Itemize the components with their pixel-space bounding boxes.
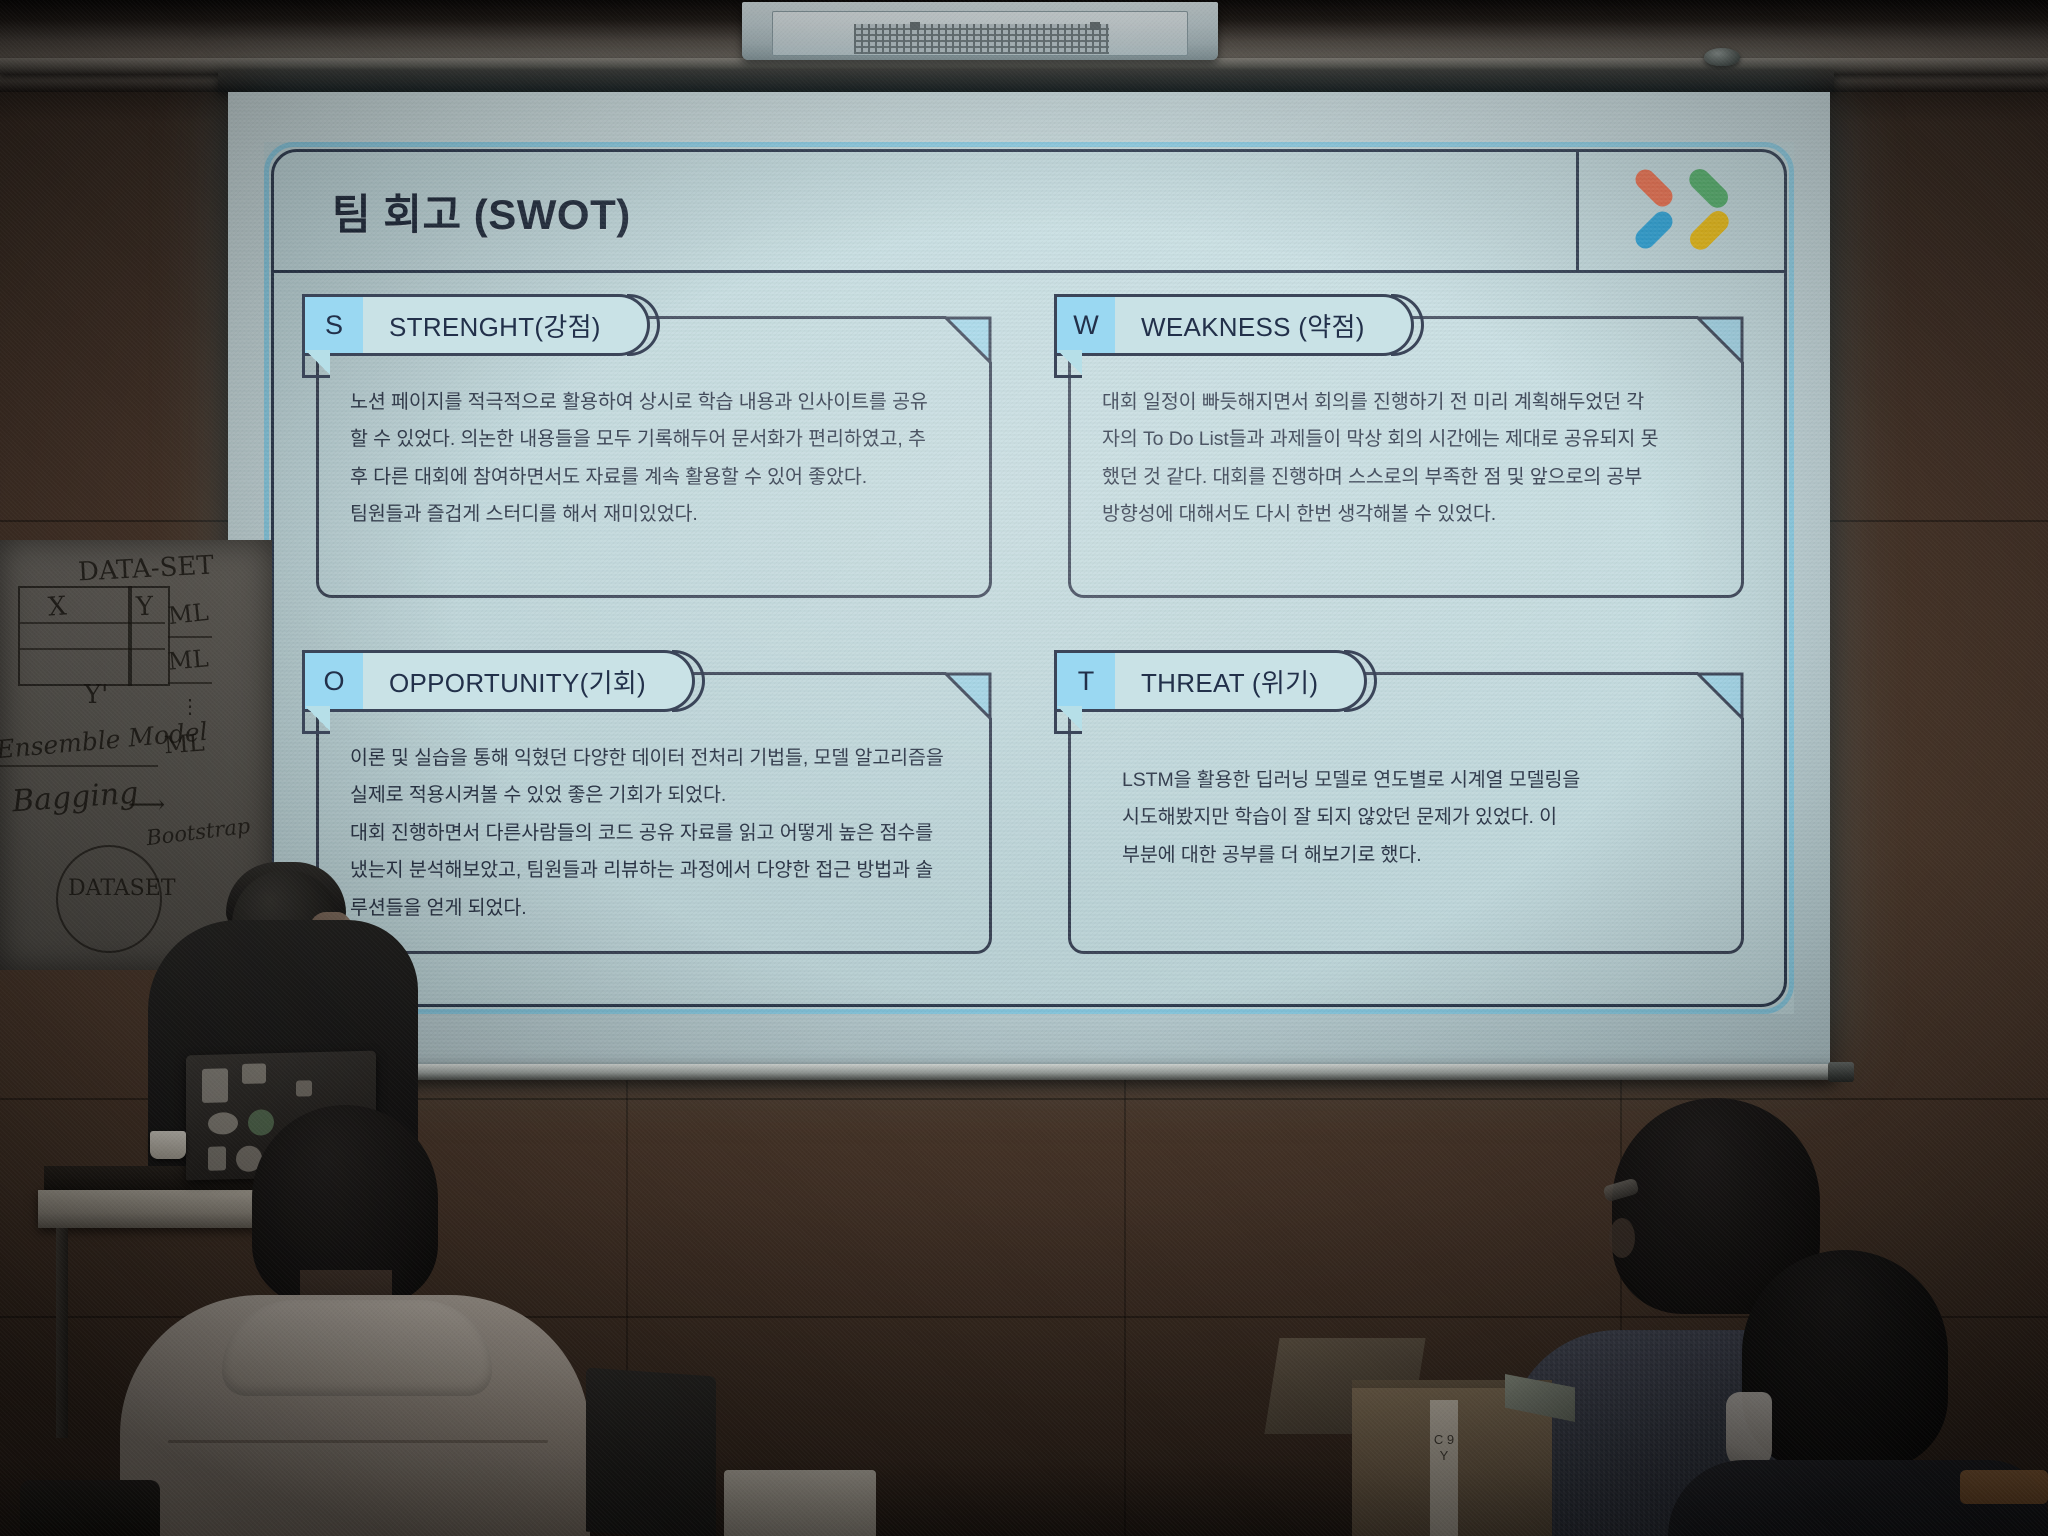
card-label: S STRENGHT(강점)	[302, 294, 650, 356]
whiteboard-note: X	[47, 591, 68, 622]
card-heading: WEAKNESS (약점)	[1115, 294, 1414, 356]
card-heading: STRENGHT(강점)	[363, 294, 650, 356]
card-text-line: 대회 일정이 빠듯해지면서 회의를 진행하기 전 미리 계획해두었던 각	[1102, 384, 1712, 421]
ceiling-air-conditioner	[742, 2, 1218, 60]
whiteboard-rule	[20, 648, 165, 650]
whiteboard-note: ML	[167, 598, 210, 630]
laptop-sticker	[296, 1080, 312, 1096]
whiteboard-rule	[168, 682, 212, 684]
box-label-text: C 9 Y	[1432, 1432, 1456, 1465]
foreground-desk	[724, 1470, 876, 1536]
slide-header: 팀 회고 (SWOT)	[274, 152, 1784, 273]
smoke-detector	[1704, 48, 1740, 66]
whiteboard-rule	[20, 622, 165, 624]
card-letter-badge: W	[1054, 294, 1115, 356]
laptop-sticker	[242, 1063, 266, 1084]
card-label: T THREAT (위기)	[1054, 650, 1367, 712]
attendee-collar	[222, 1300, 492, 1396]
attendee-head	[1742, 1250, 1948, 1470]
whiteboard-rule	[0, 765, 158, 767]
whiteboard-note: DATA-SET	[77, 550, 214, 587]
screenshot-stage: 팀 회고 (SWOT)	[0, 0, 2048, 1536]
ac-tab	[910, 22, 920, 30]
card-text-line: 부분에 대한 공부를 더 해보기로 했다.	[1122, 837, 1712, 874]
folded-corner-icon	[944, 316, 992, 364]
swot-grid: S STRENGHT(강점) 노션 페이지를 적극적으로 활용하여 상시로 학습…	[316, 294, 1744, 954]
folded-corner-icon	[1696, 316, 1744, 364]
whiteboard-note: ⋮	[180, 694, 200, 718]
card-heading: THREAT (위기)	[1115, 650, 1367, 712]
whiteboard-note: Y'	[84, 680, 108, 710]
attendee-vest-seam	[168, 1440, 548, 1443]
page-title: 팀 회고 (SWOT)	[332, 181, 631, 242]
swot-card-threat: T THREAT (위기) LSTM을 활용한 딥러닝 모델로 연도별로 시계열…	[1068, 650, 1744, 954]
folded-corner-icon	[944, 672, 992, 720]
swot-card-weakness: W WEAKNESS (약점) 대회 일정이 빠듯해지면서 회의를 진행하기 전…	[1068, 294, 1744, 598]
card-letter-badge: S	[302, 294, 363, 356]
card-text: 노션 페이지를 적극적으로 활용하여 상시로 학습 내용과 인사이트를 공유 할…	[350, 384, 960, 534]
code-brackets-logo	[1616, 168, 1748, 254]
desk-leg	[56, 1228, 68, 1438]
laptop-sticker	[208, 1112, 238, 1135]
card-text-line: 할 수 있었다. 의논한 내용들을 모두 기록해두어 문서화가 편리하였고, 추	[350, 421, 960, 458]
card-text: 대회 일정이 빠듯해지면서 회의를 진행하기 전 미리 계획해두었던 각 자의 …	[1102, 384, 1712, 534]
card-letter-badge: O	[302, 650, 363, 712]
whiteboard-note: Y	[135, 592, 153, 623]
card-text-line: 냈는지 분석해보았고, 팀원들과 리뷰하는 과정에서 다양한 접근 방법과 솔	[350, 852, 960, 889]
swot-card-strength: S STRENGHT(강점) 노션 페이지를 적극적으로 활용하여 상시로 학습…	[316, 294, 992, 598]
logo-cell	[1576, 152, 1784, 270]
card-text-line: 실제로 적용시켜볼 수 있었 좋은 기회가 되었다.	[350, 777, 960, 814]
card-heading: OPPORTUNITY(기회)	[363, 650, 695, 712]
screen-endcap	[1828, 1062, 1854, 1082]
card-text-line: 노션 페이지를 적극적으로 활용하여 상시로 학습 내용과 인사이트를 공유	[350, 384, 960, 421]
card-text-line: 시도해봤지만 학습이 잘 되지 않았던 문제가 있었다. 이	[1122, 799, 1712, 836]
whiteboard-table-x	[18, 586, 132, 686]
projection-screen-roller	[218, 70, 1834, 92]
slide: 팀 회고 (SWOT)	[264, 142, 1794, 1014]
card-text-line: 팀원들과 즐겁게 스터디를 해서 재미있었다.	[350, 496, 960, 533]
card-letter-badge: T	[1054, 650, 1115, 712]
box-label	[1430, 1400, 1458, 1536]
card-label: O OPPORTUNITY(기회)	[302, 650, 695, 712]
card-text: LSTM을 활용한 딥러닝 모델로 연도별로 시계열 모델링을 시도해봤지만 학…	[1122, 762, 1712, 874]
ac-grille-icon	[854, 24, 1109, 54]
swot-card-opportunity: O OPPORTUNITY(기회) 이론 및 실습을 통해 익혔던 다양한 데이…	[316, 650, 992, 954]
laptop-sticker	[202, 1068, 228, 1103]
foreground-object	[1960, 1470, 2048, 1504]
card-text-line: 했던 것 같다. 대회를 진행하며 스스로의 부족한 점 및 앞으로의 공부	[1102, 459, 1712, 496]
card-text-line: 루션들을 얻게 되었다.	[350, 890, 960, 927]
projection-screen: 팀 회고 (SWOT)	[228, 92, 1830, 1064]
card-text-line: 후 다른 대회에 참여하면서도 자료를 계속 활용할 수 있어 좋았다.	[350, 459, 960, 496]
folded-corner-icon	[1696, 672, 1744, 720]
card-text-line: 대회 진행하면서 다른사람들의 코드 공유 자료를 읽고 어떻게 높은 점수를	[350, 815, 960, 852]
projection-screen-bottom-bar	[222, 1064, 1836, 1080]
foreground-chair	[20, 1480, 160, 1536]
laptop-sticker	[208, 1146, 226, 1170]
card-label: W WEAKNESS (약점)	[1054, 294, 1414, 356]
attendee-ear	[1609, 1218, 1635, 1258]
coffee-cup	[150, 1131, 186, 1159]
foreground-laptop	[586, 1367, 716, 1536]
whiteboard-note: DATASET	[68, 876, 176, 901]
whiteboard-rule	[168, 636, 212, 638]
laptop-sticker	[248, 1109, 274, 1136]
ac-tab	[1090, 22, 1100, 30]
card-text: 이론 및 실습을 통해 익혔던 다양한 데이터 전처리 기법들, 모델 알고리즘…	[350, 740, 960, 927]
face-mask	[1726, 1392, 1772, 1470]
whiteboard-note: Bagging	[11, 776, 140, 820]
card-text-line: 방향성에 대해서도 다시 한번 생각해볼 수 있었다.	[1102, 496, 1712, 533]
whiteboard-note: ML	[167, 644, 210, 675]
card-text-line: LSTM을 활용한 딥러닝 모델로 연도별로 시계열 모델링을	[1122, 762, 1712, 799]
whiteboard-arrow-icon: ⟶	[128, 790, 165, 820]
card-text-line: 자의 To Do List들과 과제들이 막상 회의 시간에는 제대로 공유되지…	[1102, 421, 1712, 458]
card-text-line: 이론 및 실습을 통해 익혔던 다양한 데이터 전처리 기법들, 모델 알고리즘…	[350, 740, 960, 777]
